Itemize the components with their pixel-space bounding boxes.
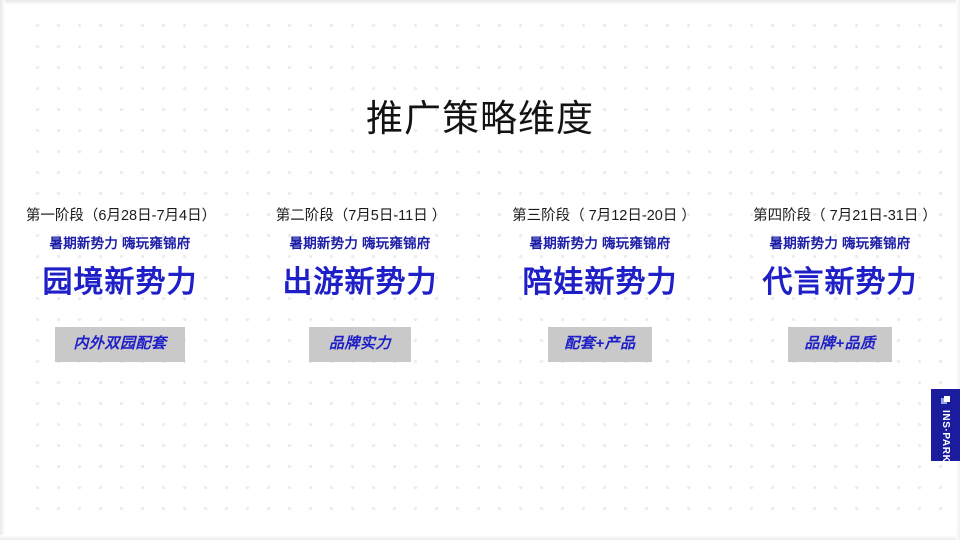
stage-tag-2: 品牌实力	[309, 327, 411, 362]
ins-park-logo-text: INS·PARK	[940, 410, 951, 462]
stage-slogan-3: 暑期新势力 嗨玩雍锦府	[480, 234, 720, 254]
stage-tag-3: 配套+产品	[548, 327, 651, 362]
stage-slogan-4: 暑期新势力 嗨玩雍锦府	[720, 234, 960, 254]
stage-tag-wrap-3: 配套+产品	[480, 327, 720, 362]
stage-period-1: 第一阶段（6月28日-7月4日）	[0, 206, 240, 226]
stage-headline-2: 出游新势力	[240, 263, 480, 303]
stage-column-3: 第三阶段（ 7月12日-20日 ） 暑期新势力 嗨玩雍锦府 陪娃新势力 配套+产…	[480, 206, 720, 386]
stage-slogan-2: 暑期新势力 嗨玩雍锦府	[240, 234, 480, 254]
stage-headline-3: 陪娃新势力	[480, 263, 720, 303]
stage-period-2: 第二阶段（7月5日-11日 ）	[240, 206, 480, 226]
slide-edge-top	[0, 0, 960, 5]
ins-park-logo-badge: INS·PARK	[931, 389, 960, 461]
stage-column-1: 第一阶段（6月28日-7月4日） 暑期新势力 嗨玩雍锦府 园境新势力 内外双园配…	[0, 206, 240, 386]
stage-columns: 第一阶段（6月28日-7月4日） 暑期新势力 嗨玩雍锦府 园境新势力 内外双园配…	[0, 206, 960, 386]
slide-edge-bottom	[0, 535, 960, 540]
stage-headline-4: 代言新势力	[720, 263, 960, 303]
stage-headline-1: 园境新势力	[0, 263, 240, 303]
stage-tag-wrap-4: 品牌+品质	[720, 327, 960, 362]
page-title: 推广策略维度	[0, 96, 960, 141]
stage-column-4: 第四阶段（ 7月21日-31日 ） 暑期新势力 嗨玩雍锦府 代言新势力 品牌+品…	[720, 206, 960, 386]
stage-tag-4: 品牌+品质	[788, 327, 891, 362]
stage-slogan-1: 暑期新势力 嗨玩雍锦府	[0, 234, 240, 254]
ins-park-squares-icon	[941, 396, 950, 405]
stage-period-4: 第四阶段（ 7月21日-31日 ）	[720, 206, 960, 226]
stage-tag-wrap-1: 内外双园配套	[0, 327, 240, 362]
stage-period-3: 第三阶段（ 7月12日-20日 ）	[480, 206, 720, 226]
stage-tag-1: 内外双园配套	[55, 327, 184, 362]
slide-canvas: 推广策略维度 第一阶段（6月28日-7月4日） 暑期新势力 嗨玩雍锦府 园境新势…	[0, 0, 960, 540]
stage-column-2: 第二阶段（7月5日-11日 ） 暑期新势力 嗨玩雍锦府 出游新势力 品牌实力	[240, 206, 480, 386]
stage-tag-wrap-2: 品牌实力	[240, 327, 480, 362]
